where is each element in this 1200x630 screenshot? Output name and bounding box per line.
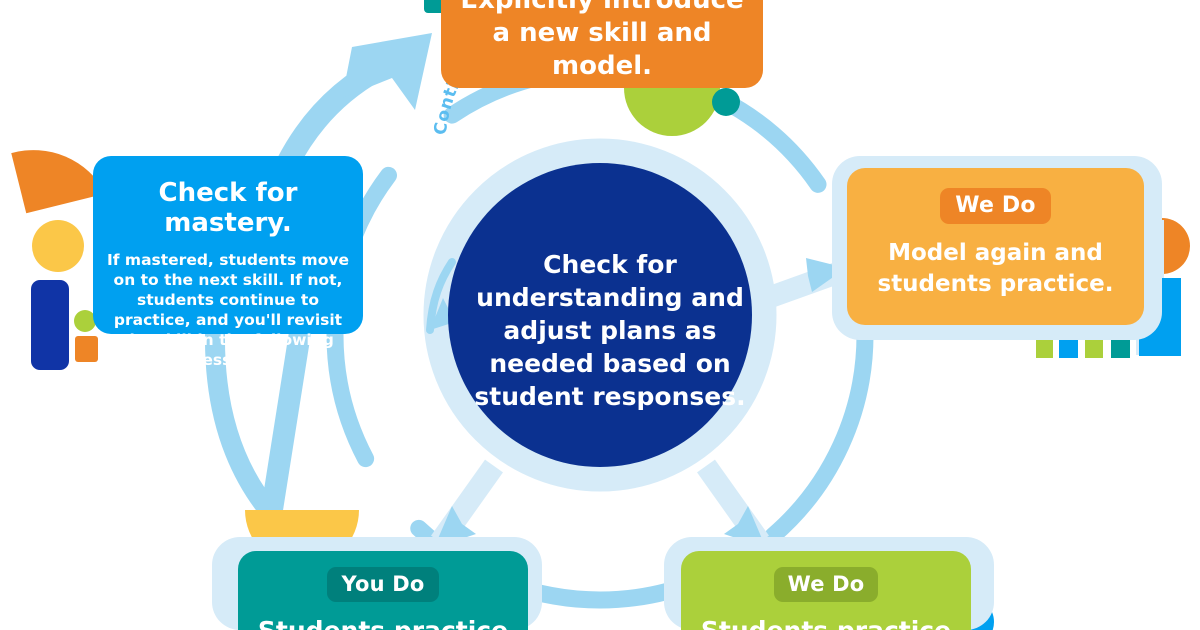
check-mastery-title: Check for mastery. [93,178,363,238]
we-do-model-badge: We Do [940,188,1050,224]
yellow-circle-icon [32,220,84,272]
diagram-canvas: Continue to practice and reinforce. [0,0,1200,630]
teal-dot-icon [712,88,740,116]
step-card-check-mastery[interactable]: Check for mastery. If mastered, students… [93,156,363,334]
orange-quarter-circle-icon [11,133,106,213]
you-do-body: Students practice [244,614,522,630]
navy-rounded-rect-icon [31,280,69,370]
i-do-body: Explicitly introduce a new skill and mod… [441,0,763,83]
step-card-i-do[interactable]: Explicitly introduce a new skill and mod… [441,0,763,88]
green-half-circle-icon [624,88,720,136]
step-card-we-do-pairs[interactable]: We Do Students practice in [681,551,971,630]
step-card-we-do-model[interactable]: We Do Model again and students practice. [847,168,1144,325]
we-do-model-body: Model again and students practice. [847,238,1144,300]
centre-circle-text: Check for understanding and adjust plans… [455,248,765,413]
you-do-badge: You Do [327,567,438,602]
check-mastery-body: If mastered, students move on to the nex… [93,250,363,370]
we-do-pairs-badge: We Do [774,567,879,602]
step-card-you-do[interactable]: You Do Students practice [238,551,528,630]
we-do-pairs-body: Students practice in [681,614,971,630]
